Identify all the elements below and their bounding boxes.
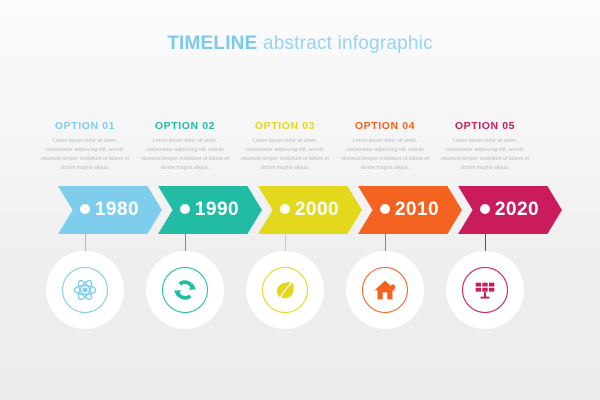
page-title: TIMELINE abstract infographic [0, 33, 600, 55]
option-label-4: OPTION 04 [337, 120, 433, 132]
option-description-1: Lorem ipsum dolor sit amet, consectetur … [37, 137, 133, 173]
column-2: OPTION 02 Lorem ipsum dolor sit amet, co… [137, 120, 233, 173]
icon-ring-5 [462, 267, 508, 313]
connector-dot-5[interactable] [480, 204, 490, 214]
infographic-canvas: TIMELINE abstract infographic OPTION 01 … [0, 0, 600, 400]
option-description-3: Lorem ipsum dolor sit amet, consectetur … [237, 137, 333, 173]
timeline-band: 1980 1990 2000 2010 2020 [0, 186, 600, 234]
timeline-segment-4[interactable]: 2010 [358, 186, 462, 234]
timeline-segment-5[interactable]: 2020 [458, 186, 562, 234]
icon-disc-5[interactable] [446, 251, 524, 329]
icon-disc-4[interactable] [346, 251, 424, 329]
timeline-segment-1[interactable]: 1980 [58, 186, 162, 234]
option-description-5: Lorem ipsum dolor sit amet, consectetur … [437, 137, 533, 173]
connector-stem-4 [385, 209, 386, 255]
icon-ring-1 [62, 267, 108, 313]
timeline-year-4: 2010 [358, 186, 462, 234]
timeline-segment-2[interactable]: 1990 [158, 186, 262, 234]
connector-stem-1 [85, 209, 86, 255]
timeline-segment-3[interactable]: 2000 [258, 186, 362, 234]
timeline-year-5: 2020 [458, 186, 562, 234]
home-icon [372, 277, 398, 303]
option-description-4: Lorem ipsum dolor sit amet, consectetur … [337, 137, 433, 173]
column-5: OPTION 05 Lorem ipsum dolor sit amet, co… [437, 120, 533, 173]
timeline-year-1: 1980 [58, 186, 162, 234]
recycle-icon [172, 277, 198, 303]
solar-panel-icon [472, 277, 498, 303]
connector-dot-4[interactable] [380, 204, 390, 214]
icon-disc-1[interactable] [46, 251, 124, 329]
option-label-2: OPTION 02 [137, 120, 233, 132]
column-3: OPTION 03 Lorem ipsum dolor sit amet, co… [237, 120, 333, 173]
icon-ring-4 [362, 267, 408, 313]
atom-icon [72, 277, 98, 303]
option-label-3: OPTION 03 [237, 120, 333, 132]
title-light: abstract infographic [263, 33, 433, 54]
connector-stem-3 [285, 209, 286, 255]
icon-disc-2[interactable] [146, 251, 224, 329]
connector-dot-2[interactable] [180, 204, 190, 214]
timeline-year-3: 2000 [258, 186, 362, 234]
leaf-icon [272, 277, 298, 303]
connector-stem-5 [485, 209, 486, 255]
title-strong: TIMELINE [167, 33, 257, 54]
icon-ring-3 [262, 267, 308, 313]
option-description-2: Lorem ipsum dolor sit amet, consectetur … [137, 137, 233, 173]
connector-dot-1[interactable] [80, 204, 90, 214]
timeline-year-2: 1990 [158, 186, 262, 234]
icon-ring-2 [162, 267, 208, 313]
option-label-5: OPTION 05 [437, 120, 533, 132]
column-4: OPTION 04 Lorem ipsum dolor sit amet, co… [337, 120, 433, 173]
option-label-1: OPTION 01 [37, 120, 133, 132]
connector-stem-2 [185, 209, 186, 255]
icon-disc-3[interactable] [246, 251, 324, 329]
column-1: OPTION 01 Lorem ipsum dolor sit amet, co… [37, 120, 133, 173]
connector-dot-3[interactable] [280, 204, 290, 214]
